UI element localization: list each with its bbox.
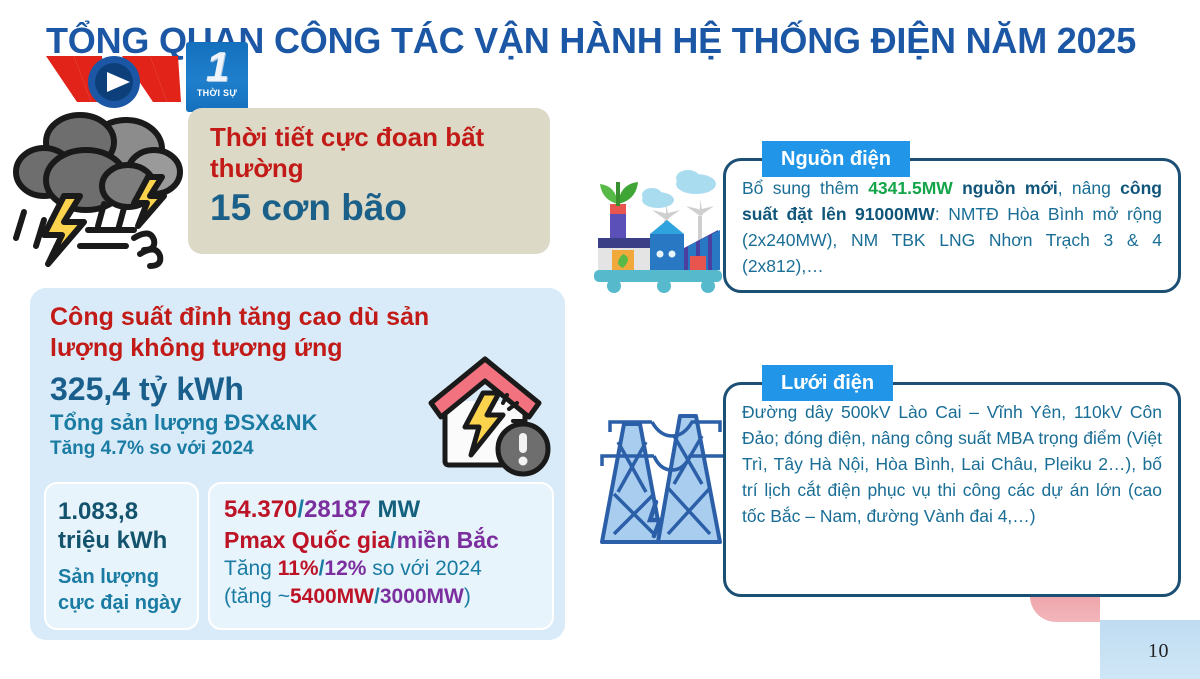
capacity-headline: Công suất đỉnh tăng cao dù sản lượng khô… — [50, 302, 470, 364]
pmax-north-label: miền Bắc — [397, 527, 499, 553]
power-source-bold-1: nguồn mới — [953, 178, 1058, 198]
pmax-labels-row: Pmax Quốc gia/miền Bắc — [224, 525, 552, 555]
daily-output-card: 1.083,8 triệu kWh Sản lượng cực đại ngày — [44, 482, 199, 630]
power-grid-tab: Lưới điện — [762, 365, 893, 401]
storm-cloud-icon — [8, 104, 188, 269]
pmax-values-row: 54.370/28187 MW — [224, 495, 552, 525]
pmax-growth-row: Tăng 11%/12% so với 2024 — [224, 555, 552, 583]
pmax-growth-prefix: Tăng — [224, 557, 278, 580]
power-source-text-1: Bổ sung thêm — [742, 178, 868, 198]
pmax-delta-north: 3000MW — [380, 585, 464, 608]
vov1-channel-sub: THỜI SỰ — [197, 88, 237, 98]
pmax-card: 54.370/28187 MW Pmax Quốc gia/miền Bắc T… — [208, 482, 554, 630]
daily-output-value: 1.083,8 — [58, 497, 197, 526]
vov1-logo: 1 THỜI SỰ — [44, 42, 236, 112]
pmax-national-label: Pmax Quốc gia — [224, 527, 390, 553]
daily-output-unit: triệu kWh — [58, 526, 197, 555]
extreme-weather-headline: Thời tiết cực đoan bất thường — [210, 122, 532, 184]
vov-wordmark-icon — [44, 50, 186, 112]
pmax-growth-national: 11% — [278, 557, 319, 580]
pmax-growth-suffix: so với 2024 — [366, 557, 481, 580]
power-source-text-2: , nâng — [1058, 178, 1120, 198]
pmax-north-value: 28187 — [304, 496, 371, 523]
slide-canvas: 10 TỔNG QUAN CÔNG TÁC VẬN HÀNH HỆ THỐNG … — [0, 0, 1200, 679]
daily-output-label-1: Sản lượng — [58, 564, 197, 590]
extreme-weather-card: Thời tiết cực đoan bất thường 15 cơn bão — [188, 108, 550, 254]
green-power-plant-icon — [592, 162, 724, 294]
vov1-channel-number: 1 — [206, 44, 228, 90]
pmax-delta-national: 5400MW — [290, 585, 374, 608]
pmax-delta-suffix: ) — [464, 585, 471, 608]
power-source-box: Bổ sung thêm 4341.5MW nguồn mới, nâng cô… — [723, 158, 1181, 293]
power-grid-text: Đường dây 500kV Lào Cai – Vĩnh Yên, 110k… — [726, 385, 1178, 529]
power-source-tab-label: Nguồn điện — [781, 148, 891, 171]
power-source-text: Bổ sung thêm 4341.5MW nguồn mới, nâng cô… — [726, 161, 1178, 279]
pmax-growth-north: 12% — [324, 557, 366, 580]
power-grid-box: Đường dây 500kV Lào Cai – Vĩnh Yên, 110k… — [723, 382, 1181, 597]
power-source-highlight: 4341.5MW — [868, 178, 953, 198]
pmax-delta-row: (tăng ~5400MW/3000MW) — [224, 583, 552, 611]
transmission-tower-icon — [588, 402, 728, 574]
power-grid-tab-label: Lưới điện — [781, 372, 874, 395]
pmax-delta-prefix: (tăng ~ — [224, 585, 290, 608]
vov1-channel-badge: 1 THỜI SỰ — [186, 42, 248, 112]
daily-output-label-2: cực đại ngày — [58, 590, 197, 616]
statistics-row: 1.083,8 triệu kWh Sản lượng cực đại ngày… — [44, 482, 554, 630]
house-power-warning-icon — [425, 345, 553, 485]
storm-count-value: 15 cơn bão — [210, 186, 532, 230]
page-number: 10 — [1148, 640, 1169, 663]
power-source-tab: Nguồn điện — [762, 141, 910, 177]
pmax-unit: MW — [378, 496, 421, 523]
pmax-national-value: 54.370 — [224, 496, 297, 523]
